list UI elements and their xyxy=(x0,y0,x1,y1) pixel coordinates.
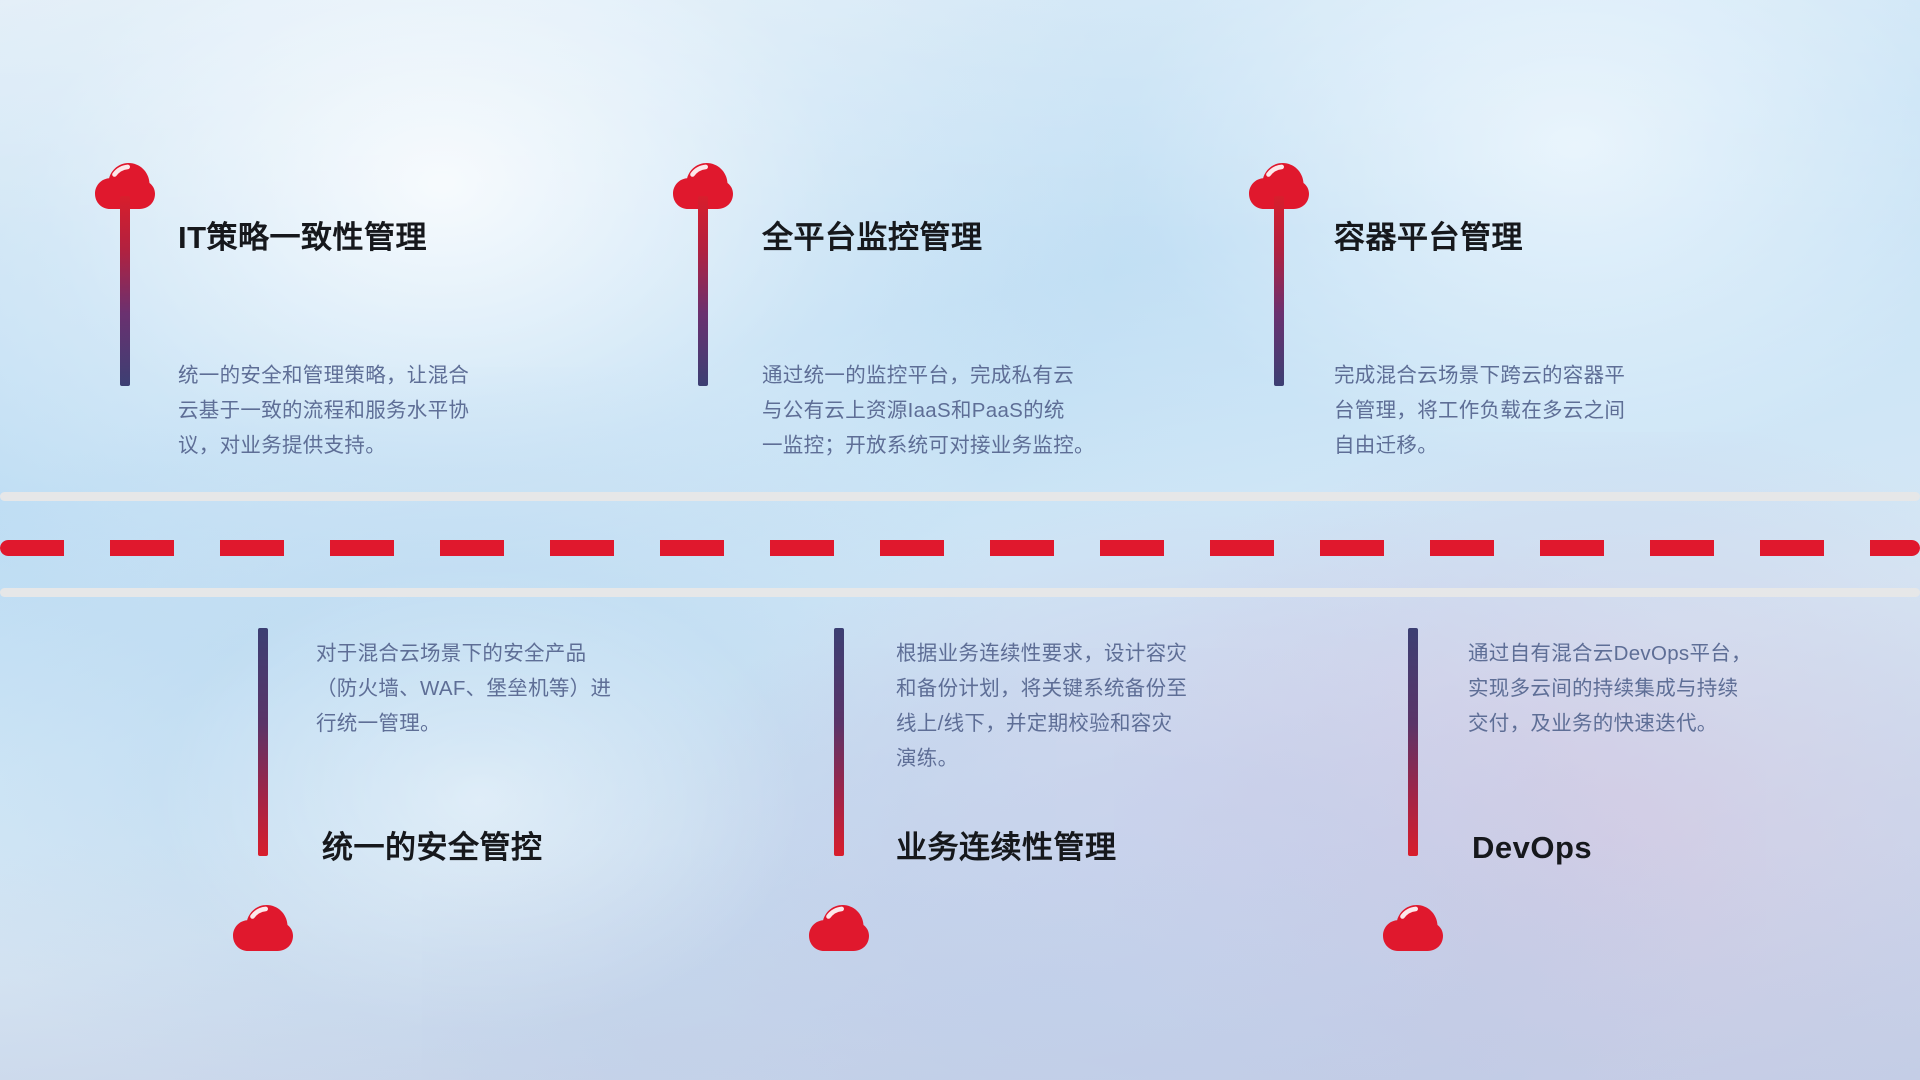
bottom-item-2-body: 根据业务连续性要求，设计容灾 和备份计划，将关键系统备份至 线上/线下，并定期校… xyxy=(896,636,1336,776)
timeline-stem xyxy=(1274,196,1284,386)
top-item-1-body: 统一的安全和管理策略，让混合 云基于一致的流程和服务水平协 议，对业务提供支持。 xyxy=(178,358,608,463)
road-dashed-divider xyxy=(0,540,1920,556)
infographic-canvas: IT策略一致性管理 统一的安全和管理策略，让混合 云基于一致的流程和服务水平协 … xyxy=(0,0,1920,1080)
bottom-item-2-title: 业务连续性管理 xyxy=(896,832,1117,863)
bottom-item-3-title: DevOps xyxy=(1472,832,1592,863)
top-item-1-title: IT策略一致性管理 xyxy=(178,222,427,253)
bottom-item-1-body: 对于混合云场景下的安全产品 （防火墙、WAF、堡垒机等）进 行统一管理。 xyxy=(316,636,746,741)
timeline-stem xyxy=(698,196,708,386)
timeline-stem xyxy=(834,628,844,856)
cloud-pin-icon xyxy=(1382,902,1444,952)
top-item-2-body: 通过统一的监控平台，完成私有云 与公有云上资源IaaS和PaaS的统 一监控；开… xyxy=(762,358,1202,463)
bottom-item-3-body: 通过自有混合云DevOps平台， 实现多云间的持续集成与持续 交付，及业务的快速… xyxy=(1468,636,1898,741)
road-rail-bottom xyxy=(0,588,1920,597)
road-rail-top xyxy=(0,492,1920,501)
timeline-stem xyxy=(120,196,130,386)
cloud-pin-icon xyxy=(808,902,870,952)
cloud-pin-icon xyxy=(232,902,294,952)
top-item-2-title: 全平台监控管理 xyxy=(762,222,983,253)
top-item-3-body: 完成混合云场景下跨云的容器平 台管理，将工作负载在多云之间 自由迁移。 xyxy=(1334,358,1764,463)
road-dash-stripes xyxy=(0,540,1920,556)
timeline-stem xyxy=(258,628,268,856)
bottom-item-1-title: 统一的安全管控 xyxy=(322,832,543,863)
top-item-3-title: 容器平台管理 xyxy=(1334,222,1523,253)
timeline-stem xyxy=(1408,628,1418,856)
